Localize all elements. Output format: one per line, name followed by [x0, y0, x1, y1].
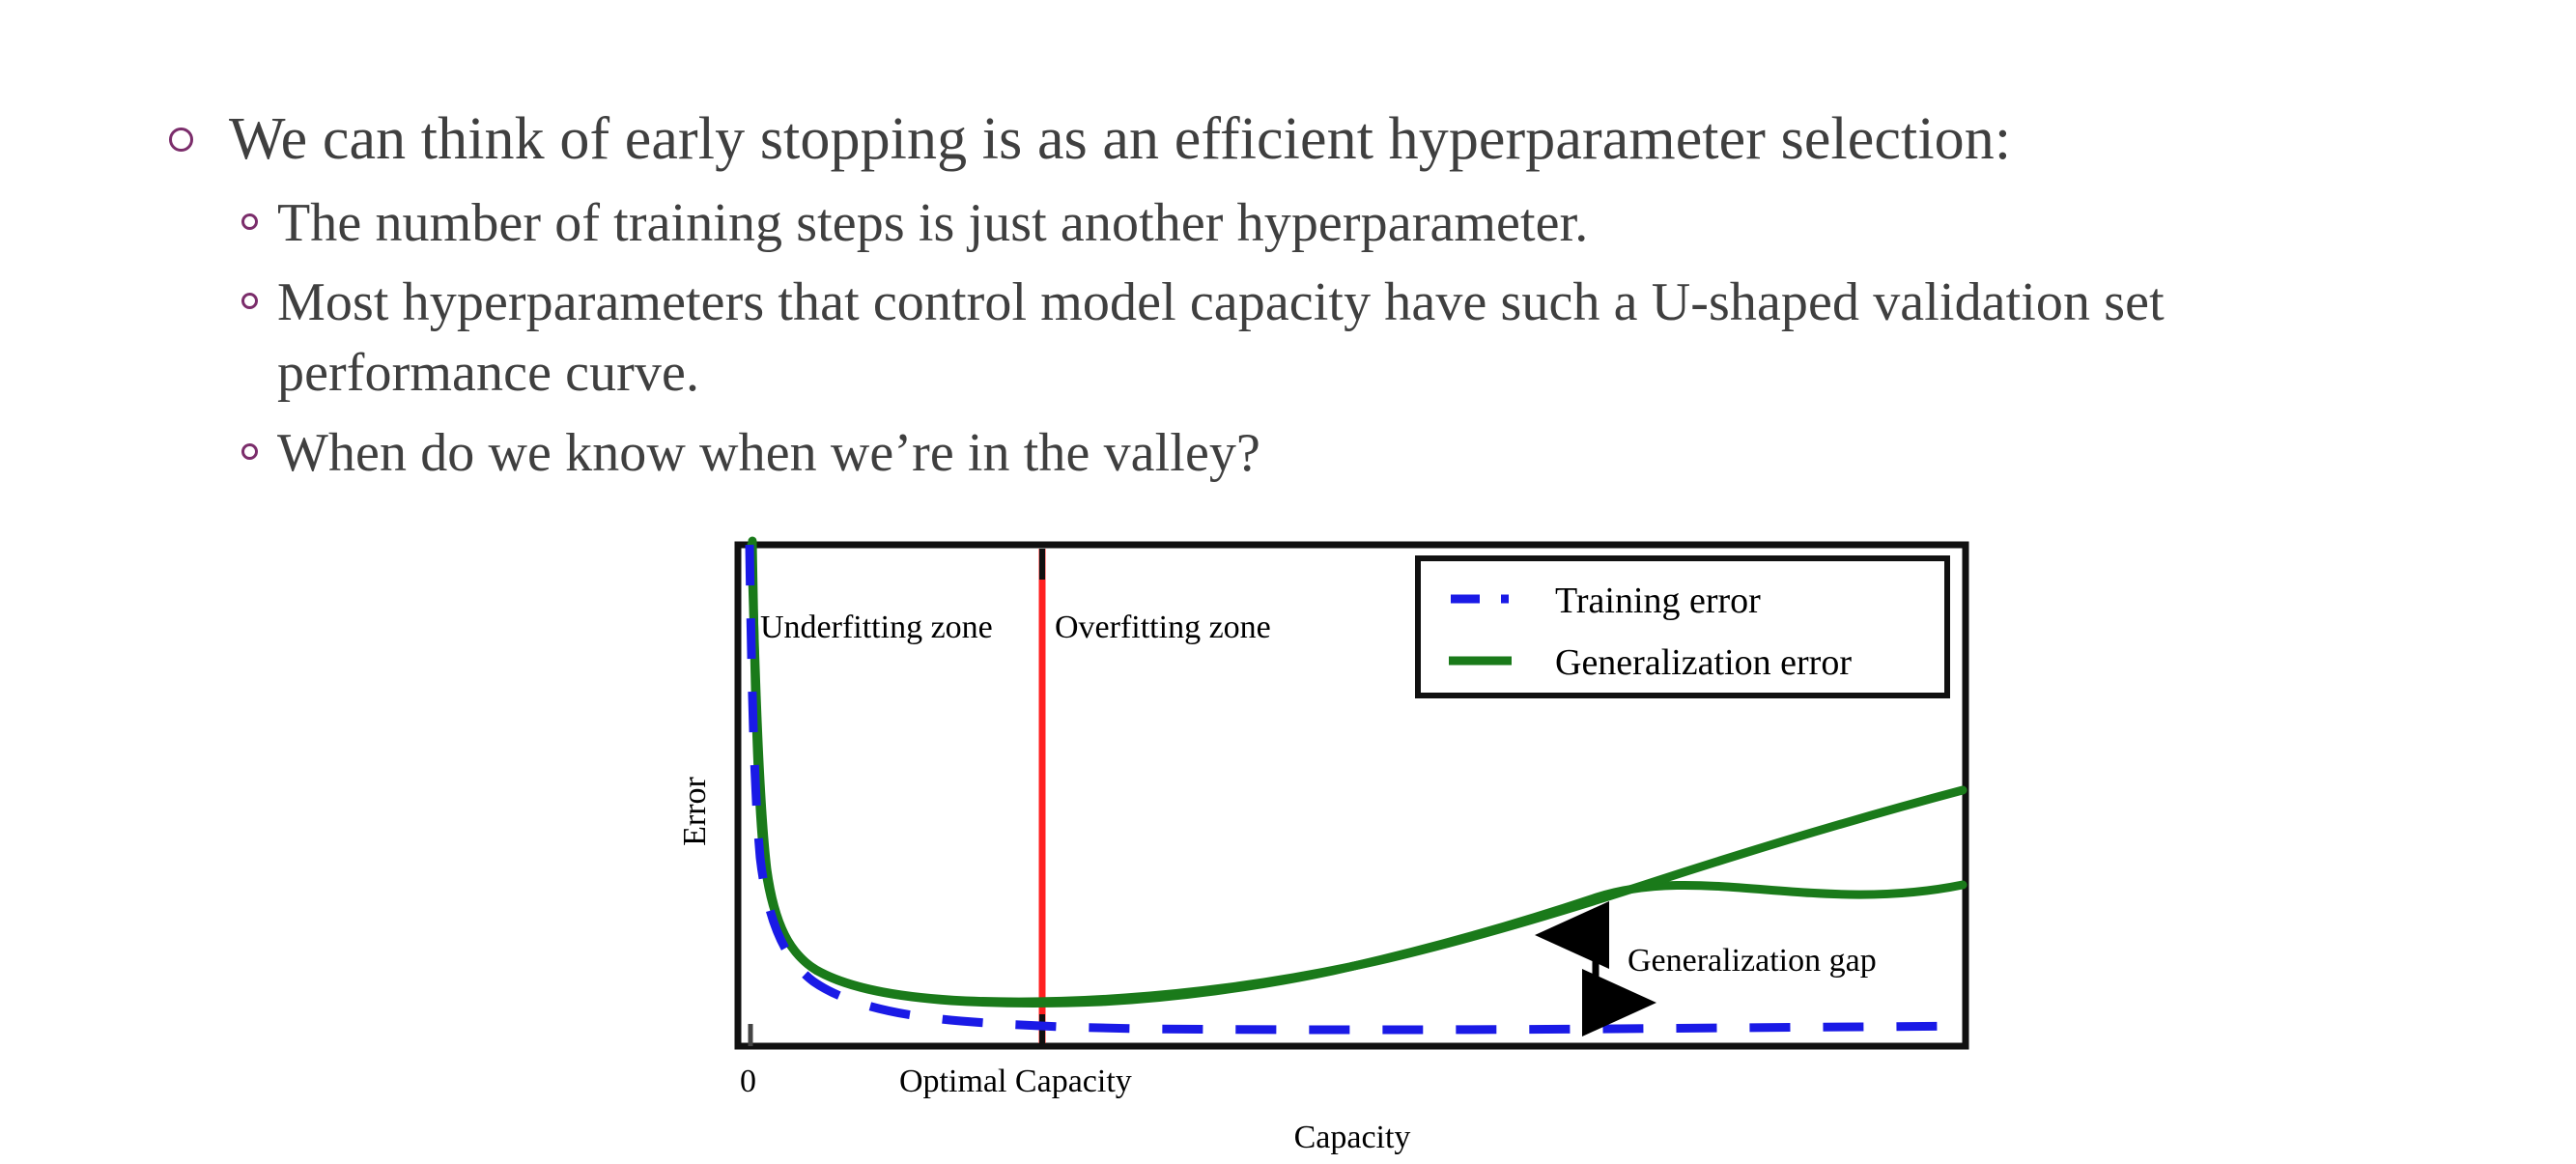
bullet-text: The number of training steps is just ano…	[277, 188, 1588, 259]
slide-body: We can think of early stopping is as an …	[0, 0, 2576, 489]
y-axis-label: Error	[677, 776, 713, 845]
bullet-item-level2: Most hyperparameters that control model …	[241, 268, 2576, 409]
legend-label-training-error: Training error	[1555, 581, 1761, 621]
plot-frame	[738, 545, 1966, 1046]
open-circle-icon	[169, 128, 193, 152]
training-error-curve	[750, 545, 1961, 1030]
overfitting-zone-label: Overfitting zone	[1055, 610, 1271, 645]
underfitting-zone-label: Underfitting zone	[760, 610, 993, 645]
generalization-error-curve	[751, 545, 1963, 1003]
bullet-item-level2: The number of training steps is just ano…	[241, 188, 2576, 259]
bullet-item-level1: We can think of early stopping is as an …	[169, 100, 2576, 179]
generalization-error-curve-main	[752, 541, 1963, 1002]
bullet-text: When do we know when we’re in the valley…	[277, 418, 1260, 489]
open-circle-small-icon	[241, 213, 258, 230]
legend-label-generalization-error: Generalization error	[1555, 642, 1852, 683]
bullet-item-level2: When do we know when we’re in the valley…	[241, 418, 2576, 489]
legend-box	[1418, 558, 1947, 696]
open-circle-small-icon	[241, 443, 258, 460]
open-circle-small-icon	[241, 293, 258, 309]
bullet-text: We can think of early stopping is as an …	[229, 100, 2011, 179]
x-axis-label: Capacity	[1294, 1120, 1411, 1155]
generalization-gap-label: Generalization gap	[1628, 943, 1877, 979]
x-tick-label-zero: 0	[740, 1064, 756, 1099]
bullet-text: Most hyperparameters that control model …	[277, 268, 2431, 409]
x-tick-label-optimal-capacity: Optimal Capacity	[899, 1064, 1132, 1099]
